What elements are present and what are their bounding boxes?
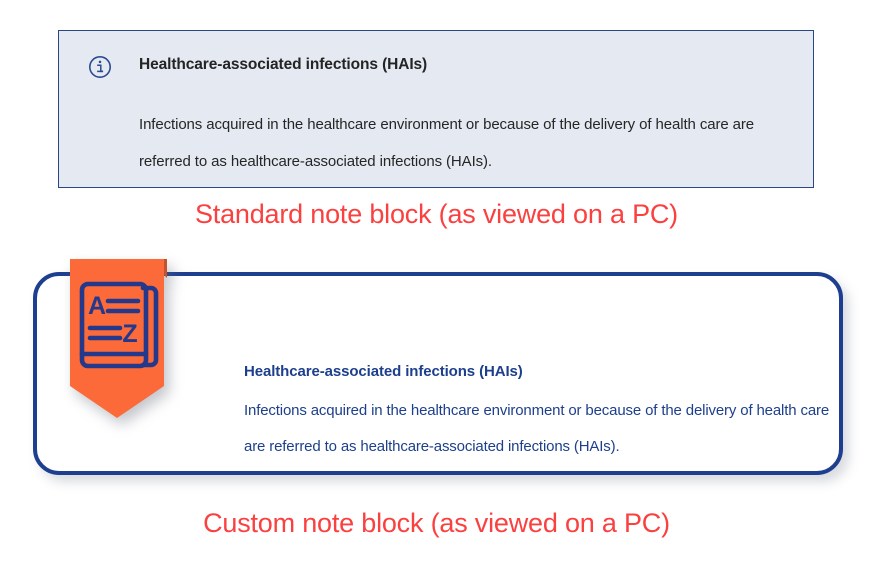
custom-note-caption: Custom note block (as viewed on a PC) bbox=[0, 508, 873, 539]
custom-note-block-wrapper: Healthcare-associated infections (HAIs) … bbox=[0, 250, 873, 500]
info-circle-icon bbox=[88, 55, 112, 79]
standard-note-title: Healthcare-associated infections (HAIs) bbox=[139, 56, 427, 74]
standard-note-header: Healthcare-associated infections (HAIs) bbox=[59, 55, 813, 81]
standard-note-body: Infections acquired in the healthcare en… bbox=[139, 106, 799, 180]
custom-note-title: Healthcare-associated infections (HAIs) bbox=[244, 363, 523, 380]
custom-note-body: Infections acquired in the healthcare en… bbox=[244, 393, 844, 465]
glossary-icon-letter-a: A bbox=[88, 292, 106, 320]
standard-note-block: Healthcare-associated infections (HAIs) … bbox=[58, 30, 814, 188]
glossary-bookmark-icon: A Z bbox=[64, 256, 170, 428]
standard-note-caption: Standard note block (as viewed on a PC) bbox=[0, 199, 873, 230]
glossary-icon-letter-z: Z bbox=[122, 320, 137, 348]
